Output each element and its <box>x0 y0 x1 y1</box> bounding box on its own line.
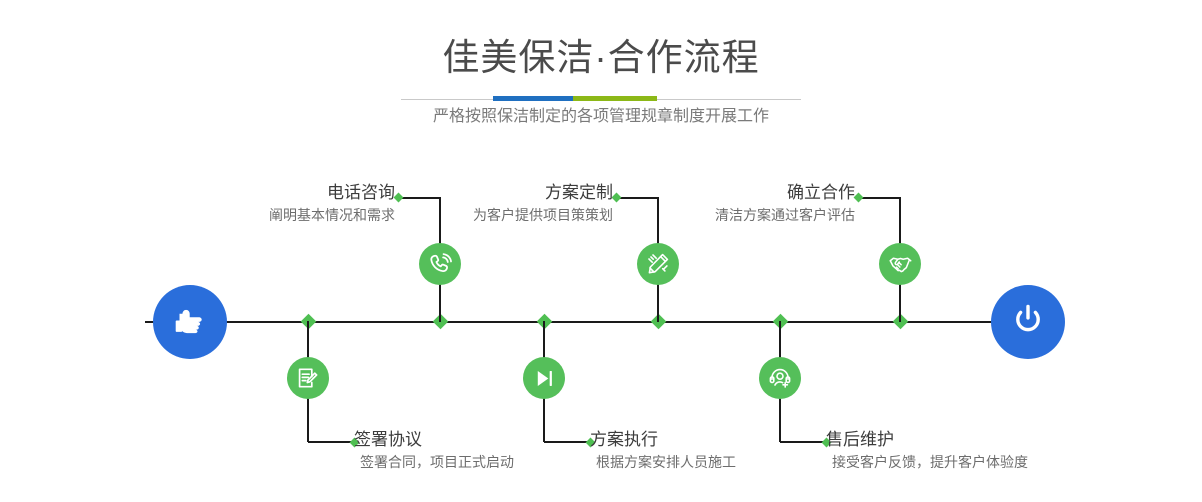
step-desc: 根据方案安排人员施工 <box>590 451 736 473</box>
power-icon <box>1008 300 1048 345</box>
timeline-end-node[interactable] <box>991 285 1065 359</box>
page-subtitle: 严格按照保洁制定的各项管理规章制度开展工作 <box>0 105 1202 129</box>
step-icon-4[interactable] <box>637 243 679 285</box>
branch-elbow <box>859 197 901 199</box>
step-title: 售后维护 <box>826 428 1028 451</box>
step-title: 方案定制 <box>473 181 613 204</box>
branch-tip-diamond <box>854 193 864 203</box>
document-edit-icon <box>296 366 320 390</box>
step-icon-5[interactable] <box>759 357 801 399</box>
pointing-hand-icon <box>170 300 210 345</box>
branch-tip-diamond <box>394 193 404 203</box>
step-icon-1[interactable] <box>287 357 329 399</box>
branch-elbow <box>399 197 441 199</box>
step-icon-3[interactable] <box>523 357 565 399</box>
step-label-6: 确立合作 清洁方案通过客户评估 <box>715 181 855 226</box>
step-icon-6[interactable] <box>879 243 921 285</box>
step-label-2: 电话咨询 阐明基本情况和需求 <box>269 181 395 226</box>
step-desc: 签署合同，项目正式启动 <box>354 451 514 473</box>
branch-elbow <box>544 441 590 443</box>
handshake-icon <box>888 252 913 277</box>
branch-elbow <box>780 441 826 443</box>
step-title: 电话咨询 <box>269 181 395 204</box>
page-title: 佳美保洁·合作流程 <box>0 36 1202 80</box>
step-label-4: 方案定制 为客户提供项目策策划 <box>473 181 613 226</box>
step-label-1: 签署协议 签署合同，项目正式启动 <box>354 428 514 473</box>
step-icon-2[interactable] <box>419 243 461 285</box>
branch-elbow <box>308 441 354 443</box>
step-label-3: 方案执行 根据方案安排人员施工 <box>590 428 736 473</box>
step-desc: 为客户提供项目策策划 <box>473 204 613 226</box>
step-title: 签署协议 <box>354 428 514 451</box>
divider-segment-blue <box>493 96 573 101</box>
phone-call-icon <box>428 252 453 277</box>
divider-segment-green <box>573 96 657 101</box>
flowchart-page: 佳美保洁·合作流程 严格按照保洁制定的各项管理规章制度开展工作 <box>0 0 1202 502</box>
customer-service-add-icon <box>768 366 792 390</box>
step-title: 确立合作 <box>715 181 855 204</box>
title-divider <box>401 95 801 103</box>
page-header: 佳美保洁·合作流程 严格按照保洁制定的各项管理规章制度开展工作 <box>0 0 1202 140</box>
pencil-ruler-icon <box>646 252 670 276</box>
step-label-5: 售后维护 接受客户反馈，提升客户体验度 <box>826 428 1028 473</box>
step-title: 方案执行 <box>590 428 736 451</box>
step-desc: 阐明基本情况和需求 <box>269 204 395 226</box>
timeline-start-node[interactable] <box>153 285 227 359</box>
branch-tip-diamond <box>612 193 622 203</box>
branch-elbow <box>617 197 659 199</box>
step-desc: 清洁方案通过客户评估 <box>715 204 855 226</box>
play-skip-icon <box>533 367 556 390</box>
timeline-axis <box>145 321 1057 323</box>
process-timeline: 签署协议 签署合同，项目正式启动 电话咨询 阐明基本情况和需求 <box>0 140 1202 502</box>
step-desc: 接受客户反馈，提升客户体验度 <box>826 451 1028 473</box>
